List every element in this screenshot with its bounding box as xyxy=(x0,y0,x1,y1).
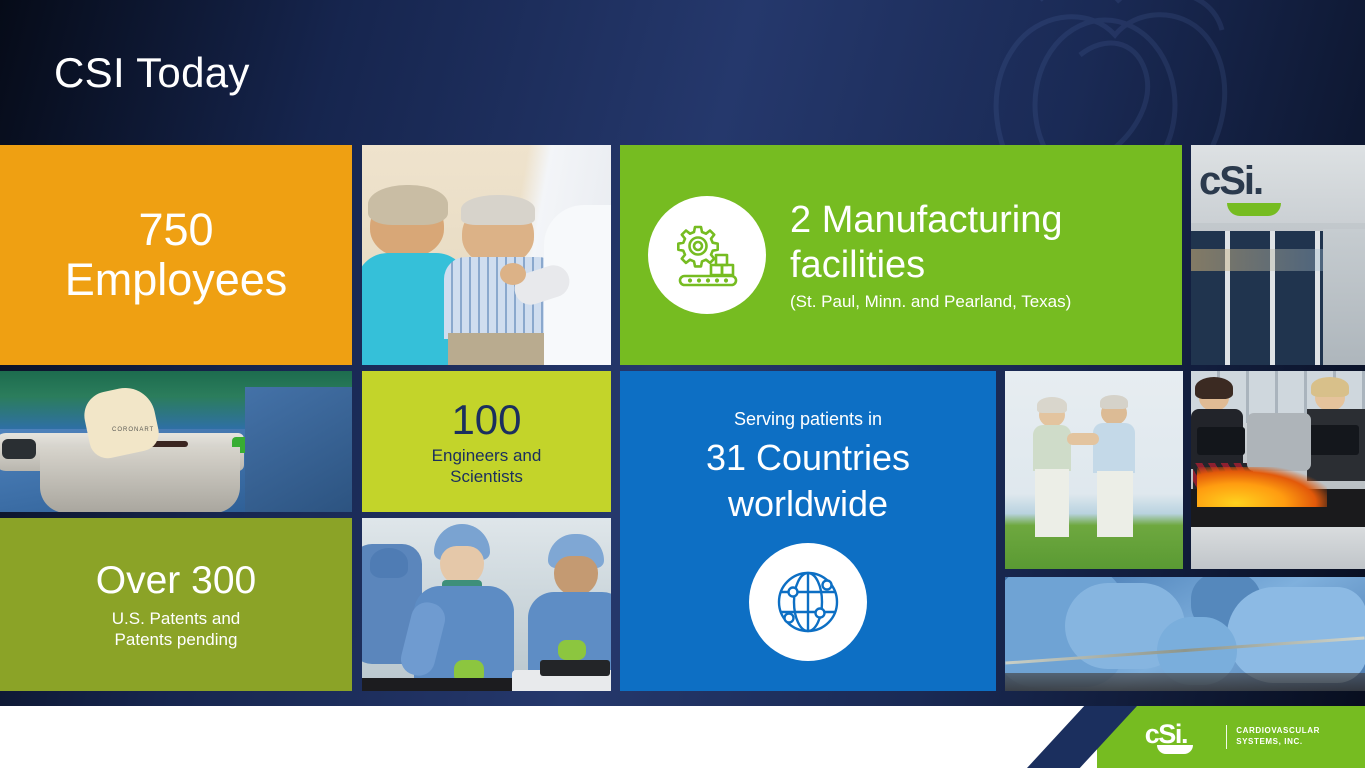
slide-canvas: CSI Today 750 Employees xyxy=(0,0,1365,768)
engineers-label: Engineers andScientists xyxy=(432,445,542,488)
tile-employees: 750 Employees xyxy=(0,145,352,365)
page-title: CSI Today xyxy=(54,50,250,96)
photo-dancing-couple xyxy=(1005,371,1183,569)
countries-pretext: Serving patients in xyxy=(734,409,882,430)
photo-patients-with-doctor xyxy=(362,145,611,365)
csi-logo-name: CARDIOVASCULAR SYSTEMS, INC. xyxy=(1236,726,1320,748)
employees-stat: 750 Employees xyxy=(65,205,288,306)
tile-countries: Serving patients in 31 Countriesworldwid… xyxy=(620,371,996,691)
manufacturing-headline: 2 Manufacturingfacilities xyxy=(790,198,1071,288)
globe-icon-badge xyxy=(749,543,867,661)
photo-device-in-procedure: CORONART xyxy=(0,371,352,512)
csi-logo-swoosh xyxy=(1157,745,1193,754)
manufacturing-icon-badge xyxy=(648,196,766,314)
tile-patents: Over 300 U.S. Patents andPatents pending xyxy=(0,518,352,691)
photo-firepit-employees xyxy=(1191,371,1365,569)
logo-divider xyxy=(1226,725,1228,749)
logo-name-line1: CARDIOVASCULAR xyxy=(1236,726,1320,737)
photo-surgeons xyxy=(362,518,611,691)
photo-csi-building: cSi. xyxy=(1191,145,1365,365)
csi-logo: cSi. CARDIOVASCULAR SYSTEMS, INC. xyxy=(1145,721,1320,753)
csi-logo-mark: cSi. xyxy=(1145,721,1217,753)
patents-label: U.S. Patents andPatents pending xyxy=(112,608,241,651)
slide-footer: cSi. CARDIOVASCULAR SYSTEMS, INC. xyxy=(0,706,1365,768)
engineers-stat: 100 xyxy=(451,396,521,443)
manufacturing-text-block: 2 Manufacturingfacilities (St. Paul, Min… xyxy=(790,198,1071,312)
logo-name-line2: SYSTEMS, INC. xyxy=(1236,737,1320,748)
tile-engineers: 100 Engineers andScientists xyxy=(362,371,611,512)
globe-network-icon xyxy=(769,563,847,641)
csi-logo-wordmark: cSi. xyxy=(1145,721,1217,748)
countries-stat: 31 Countriesworldwide xyxy=(706,435,910,527)
manufacturing-sublabel: (St. Paul, Minn. and Pearland, Texas) xyxy=(790,292,1071,312)
patents-stat: Over 300 xyxy=(96,559,256,603)
photo-gloved-hands-guidewire xyxy=(1005,577,1365,691)
tile-manufacturing: 2 Manufacturingfacilities (St. Paul, Min… xyxy=(620,145,1182,365)
factory-gear-conveyor-icon xyxy=(669,220,745,290)
